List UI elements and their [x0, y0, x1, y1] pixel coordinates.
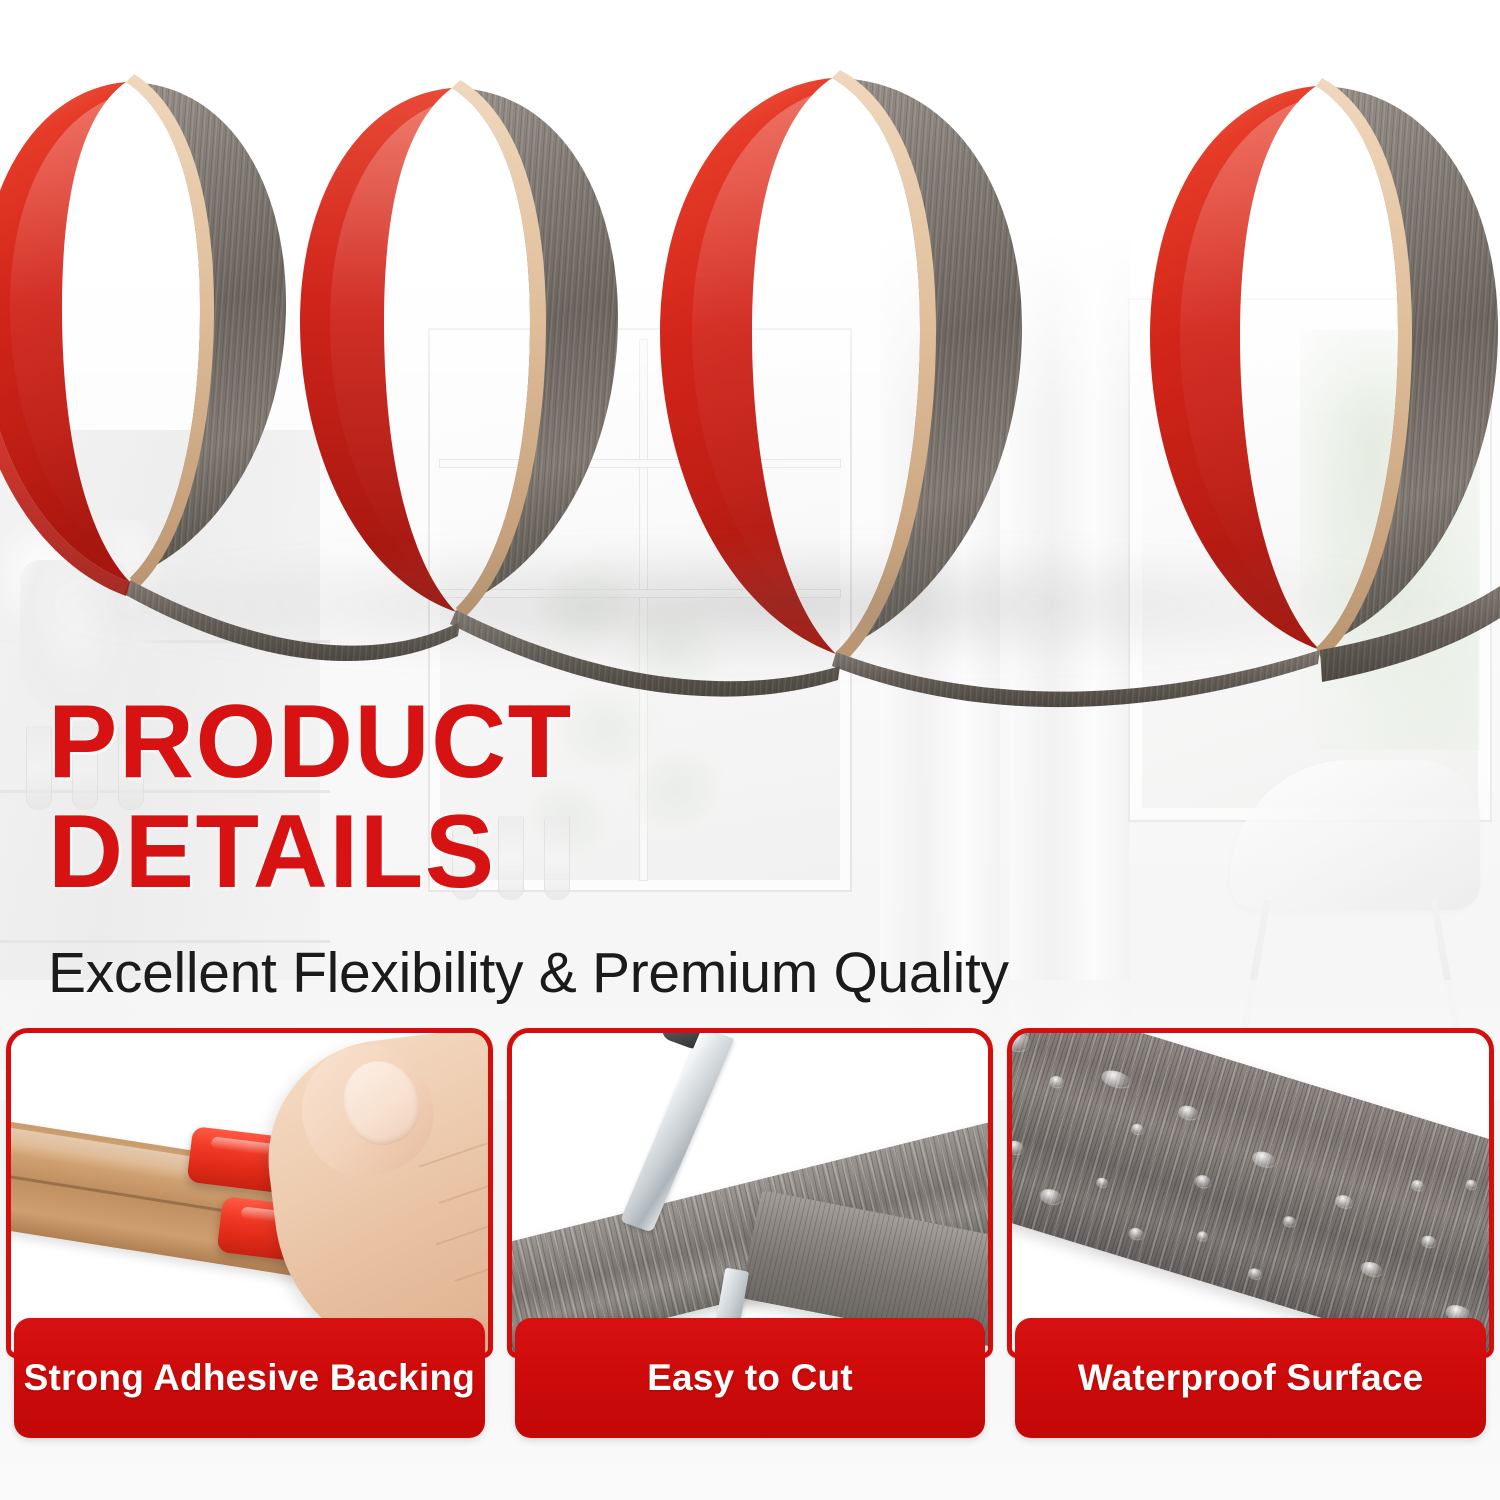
feature-label: Easy to Cut [647, 1357, 853, 1399]
page-title-line-2: DETAILS [48, 800, 1009, 904]
product-details-infographic: PRODUCT DETAILS Excellent Flexibility & … [0, 0, 1500, 1500]
feature-image-frame [1007, 1028, 1494, 1358]
adhesive-backing-photo [11, 1033, 488, 1353]
waterproof-surface-photo [1012, 1033, 1489, 1353]
hero-edge-banding-coil [0, 0, 1500, 720]
page-title-line-1: PRODUCT [48, 690, 1009, 794]
feature-card-adhesive[interactable]: Strong Adhesive Backing [6, 1028, 493, 1448]
feature-image-frame [6, 1028, 493, 1358]
page-subtitle: Excellent Flexibility & Premium Quality [48, 940, 1009, 1006]
feature-label: Waterproof Surface [1078, 1357, 1424, 1399]
feature-label: Strong Adhesive Backing [24, 1357, 475, 1399]
headline-block: PRODUCT DETAILS Excellent Flexibility & … [48, 690, 1009, 1006]
easy-to-cut-photo [512, 1033, 989, 1353]
feature-banner: Strong Adhesive Backing [14, 1318, 485, 1438]
feature-card-waterproof[interactable]: Waterproof Surface [1007, 1028, 1494, 1448]
feature-image-frame [507, 1028, 994, 1358]
hero-drop-shadow [60, 540, 1460, 670]
feature-card-easy-to-cut[interactable]: Easy to Cut [507, 1028, 994, 1448]
feature-banner: Waterproof Surface [1015, 1318, 1486, 1438]
background-chair-seat [1230, 760, 1480, 910]
woodgrain-plank [1012, 1033, 1489, 1353]
feature-panel-row: Strong Adhesive Backing Easy to Cut [0, 1028, 1500, 1500]
feature-banner: Easy to Cut [515, 1318, 986, 1438]
